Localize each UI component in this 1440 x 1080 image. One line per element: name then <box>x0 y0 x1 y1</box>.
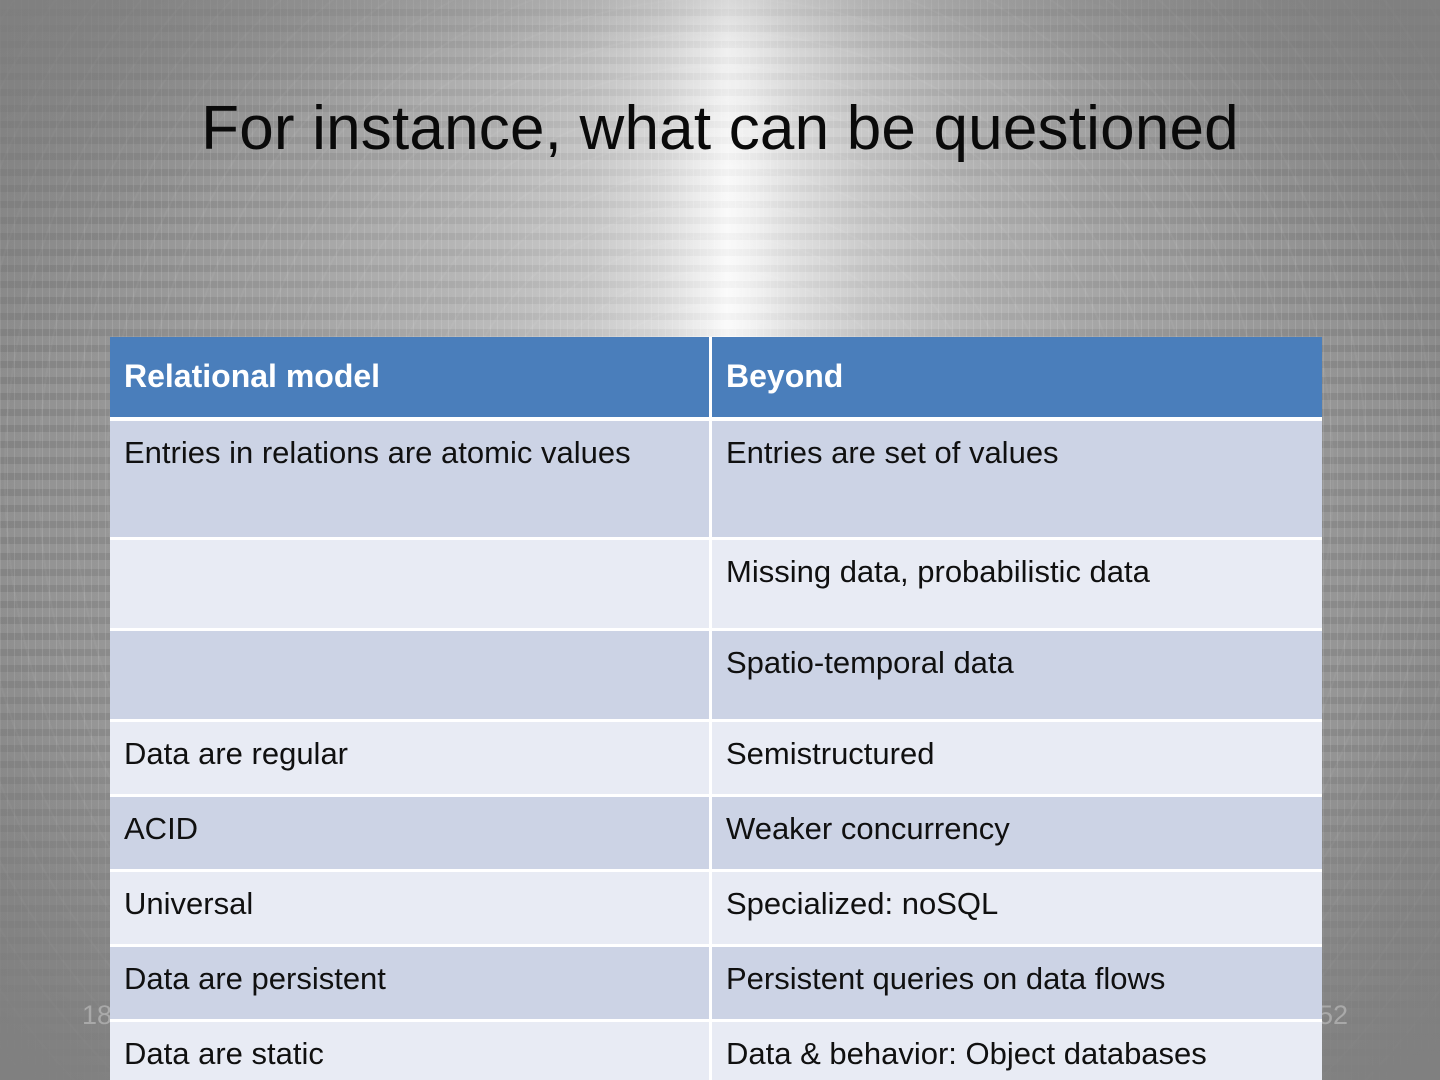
table-row: Universal Specialized: noSQL <box>110 872 1322 947</box>
slide-title: For instance, what can be questioned <box>0 95 1440 163</box>
cell-beyond: Entries are set of values <box>712 421 1322 540</box>
cell-relational: Universal <box>110 872 712 947</box>
table-row: Data are static Data & behavior: Object … <box>110 1022 1322 1080</box>
cell-relational: Data are static <box>110 1022 712 1080</box>
footer-slide-number-left: 18 <box>82 1000 112 1031</box>
slide-canvas: For instance, what can be questioned 18 … <box>0 0 1440 1080</box>
table-row: Spatio-temporal data <box>110 631 1322 722</box>
table-row: Entries in relations are atomic values E… <box>110 421 1322 540</box>
cell-beyond: Data & behavior: Object databases Active… <box>712 1022 1322 1080</box>
cell-beyond: Semistructured <box>712 722 1322 797</box>
table-row: ACID Weaker concurrency <box>110 797 1322 872</box>
cell-beyond: Spatio-temporal data <box>712 631 1322 722</box>
cell-relational <box>110 631 712 722</box>
footer-slide-number-right: 52 <box>1318 1000 1348 1031</box>
cell-relational <box>110 540 712 631</box>
table-row: Missing data, probabilistic data <box>110 540 1322 631</box>
column-header-relational-model: Relational model <box>110 337 712 421</box>
table-row: Data are regular Semistructured <box>110 722 1322 797</box>
cell-beyond: Weaker concurrency <box>712 797 1322 872</box>
cell-beyond: Persistent queries on data flows <box>712 947 1322 1022</box>
cell-beyond: Specialized: noSQL <box>712 872 1322 947</box>
cell-relational: Entries in relations are atomic values <box>110 421 712 540</box>
cell-relational: Data are regular <box>110 722 712 797</box>
cell-relational: ACID <box>110 797 712 872</box>
comparison-table: Relational model Beyond Entries in relat… <box>110 337 1322 1080</box>
cell-beyond: Missing data, probabilistic data <box>712 540 1322 631</box>
comparison-table-container: Relational model Beyond Entries in relat… <box>110 337 1322 1080</box>
table-row: Data are persistent Persistent queries o… <box>110 947 1322 1022</box>
column-header-beyond: Beyond <box>712 337 1322 421</box>
cell-relational: Data are persistent <box>110 947 712 1022</box>
table-header-row: Relational model Beyond <box>110 337 1322 421</box>
